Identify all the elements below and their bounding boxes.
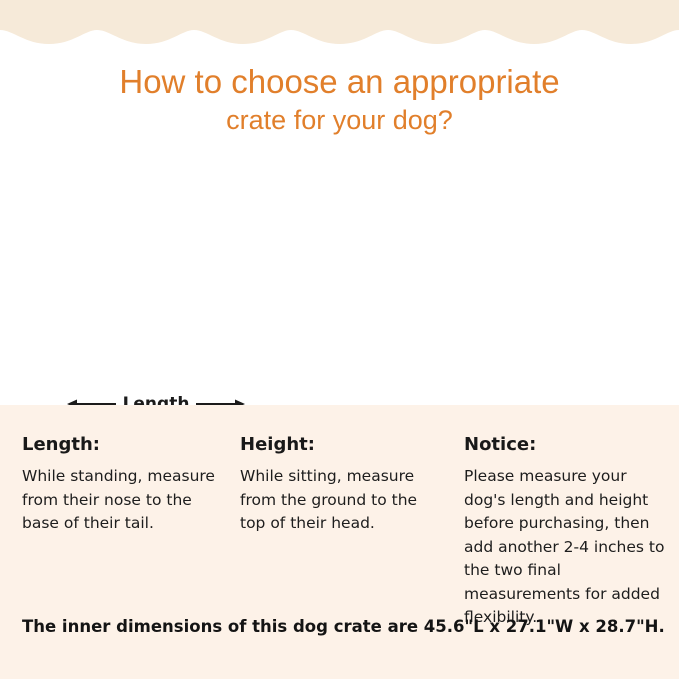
page-title: How to choose an appropriate crate for y… (0, 62, 679, 138)
column-height-body: While sitting, measure from the ground t… (240, 465, 445, 536)
column-notice-heading: Notice: (464, 433, 669, 457)
crate-dimensions-note: The inner dimensions of this dog crate a… (22, 616, 667, 638)
infographic-page: How to choose an appropriate crate for y… (0, 0, 679, 679)
title-line-2: crate for your dog? (0, 102, 679, 138)
description-columns: Length: While standing, measure from the… (0, 433, 679, 623)
column-notice: Notice: Please measure your dog's length… (464, 433, 669, 630)
column-notice-body: Please measure your dog's length and hei… (464, 465, 669, 630)
column-length: Length: While standing, measure from the… (22, 433, 222, 536)
scalloped-top-band (0, 0, 679, 46)
column-height-heading: Height: (240, 433, 445, 457)
illustration-area: Length (0, 185, 679, 400)
column-length-heading: Length: (22, 433, 222, 457)
title-line-1: How to choose an appropriate (0, 62, 679, 102)
column-height: Height: While sitting, measure from the … (240, 433, 445, 536)
column-length-body: While standing, measure from their nose … (22, 465, 222, 536)
